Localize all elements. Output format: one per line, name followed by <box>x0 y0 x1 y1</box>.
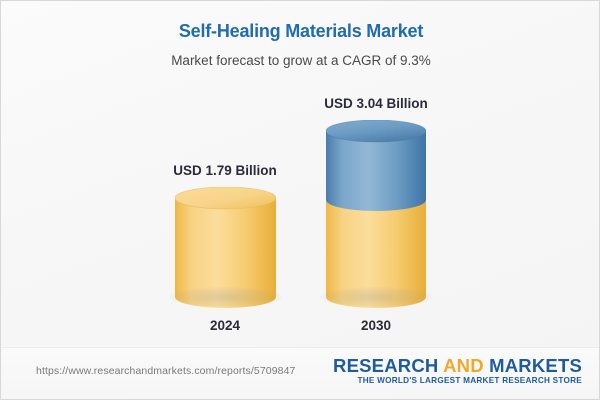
bar-value-label-2024: USD 1.79 Billion <box>125 163 325 178</box>
infographic-card: Self-Healing Materials Market Market for… <box>0 0 600 400</box>
logo-and-text: AND <box>443 355 484 376</box>
brand-logo[interactable]: RESEARCH AND MARKETS THE WORLD'S LARGEST… <box>333 356 582 385</box>
bar-cylinder-2030[interactable] <box>326 120 426 314</box>
bar-value-label-2030: USD 3.04 Billion <box>276 96 476 111</box>
logo-markets-text: MARKETS <box>484 355 582 376</box>
logo-tagline: THE WORLD'S LARGEST MARKET RESEARCH STOR… <box>333 376 582 385</box>
logo-research-text: RESEARCH <box>333 355 443 376</box>
footer: https://www.researchandmarkets.com/repor… <box>2 347 600 398</box>
logo-wordmark: RESEARCH AND MARKETS <box>333 356 582 375</box>
report-url-link[interactable]: https://www.researchandmarkets.com/repor… <box>36 365 295 377</box>
cylinder-svg-2030 <box>326 120 426 309</box>
bar-cylinder-2024[interactable] <box>175 187 276 314</box>
bar-category-label-2030: 2030 <box>276 318 476 333</box>
cylinder-svg-2024 <box>175 187 276 309</box>
chart-plot-area: USD 1.79 Billion <box>1 1 600 349</box>
